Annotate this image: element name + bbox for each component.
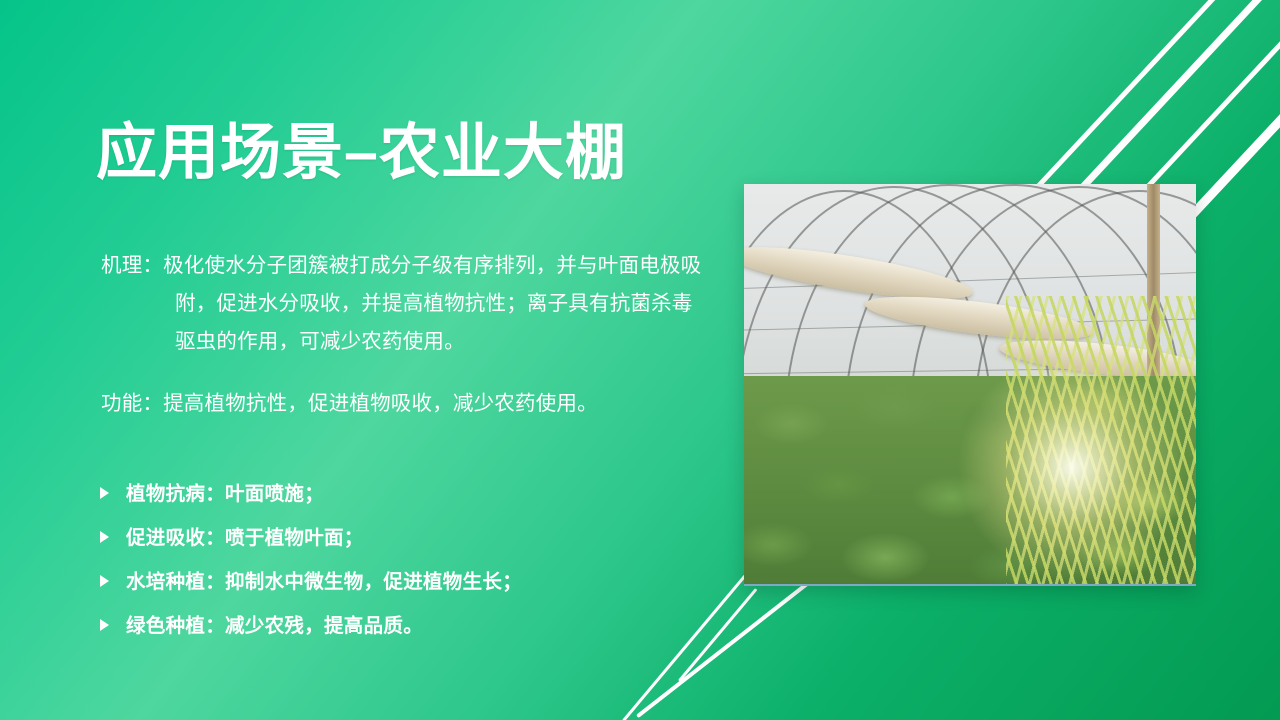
- paragraph-function: 功能：提高植物抗性，促进植物吸收，减少农药使用。: [101, 385, 711, 423]
- triangle-right-icon: [100, 526, 126, 549]
- sun-flare-icon: [957, 352, 1187, 582]
- list-item: 促进吸收：喷于植物叶面；: [100, 521, 710, 565]
- paragraph-mechanism: 机理：极化使水分子团簇被打成分子级有序排列，并与叶面电极吸附，促进水分吸收，并提…: [101, 247, 711, 361]
- list-item: 植物抗病：叶面喷施；: [100, 477, 710, 521]
- bullet-list: 植物抗病：叶面喷施； 促进吸收：喷于植物叶面； 水培种植：抑制水中微生物，促进植…: [100, 477, 710, 653]
- paragraph-mechanism-text: 极化使水分子团簇被打成分子级有序排列，并与叶面电极吸附，促进水分吸收，并提高植物…: [163, 254, 701, 353]
- paragraph-function-label: 功能：: [101, 392, 163, 415]
- list-item-label: 促进吸收：喷于植物叶面；: [126, 521, 710, 550]
- list-item-label: 植物抗病：叶面喷施；: [126, 477, 710, 506]
- list-item: 绿色种植：减少农残，提高品质。: [100, 609, 710, 653]
- paragraph-mechanism-body: 机理：极化使水分子团簇被打成分子级有序排列，并与叶面电极吸附，促进水分吸收，并提…: [101, 247, 711, 361]
- list-item-label: 水培种植：抑制水中微生物，促进植物生长；: [126, 565, 710, 594]
- paragraph-mechanism-label: 机理：: [101, 254, 163, 277]
- slide-agriculture-greenhouse: 应用场景–农业大棚 机理：极化使水分子团簇被打成分子级有序排列，并与叶面电极吸附…: [0, 0, 1280, 720]
- paragraph-function-text: 提高植物抗性，促进植物吸收，减少农药使用。: [163, 392, 598, 415]
- text-column: 应用场景–农业大棚 机理：极化使水分子团簇被打成分子级有序排列，并与叶面电极吸附…: [96, 0, 716, 720]
- triangle-right-icon: [100, 482, 126, 505]
- triangle-right-icon: [100, 570, 126, 593]
- page-title: 应用场景–农业大棚: [96, 118, 627, 186]
- list-item: 水培种植：抑制水中微生物，促进植物生长；: [100, 565, 710, 609]
- greenhouse-photo: [744, 184, 1196, 586]
- triangle-right-icon: [100, 614, 126, 637]
- list-item-label: 绿色种植：减少农残，提高品质。: [126, 609, 710, 638]
